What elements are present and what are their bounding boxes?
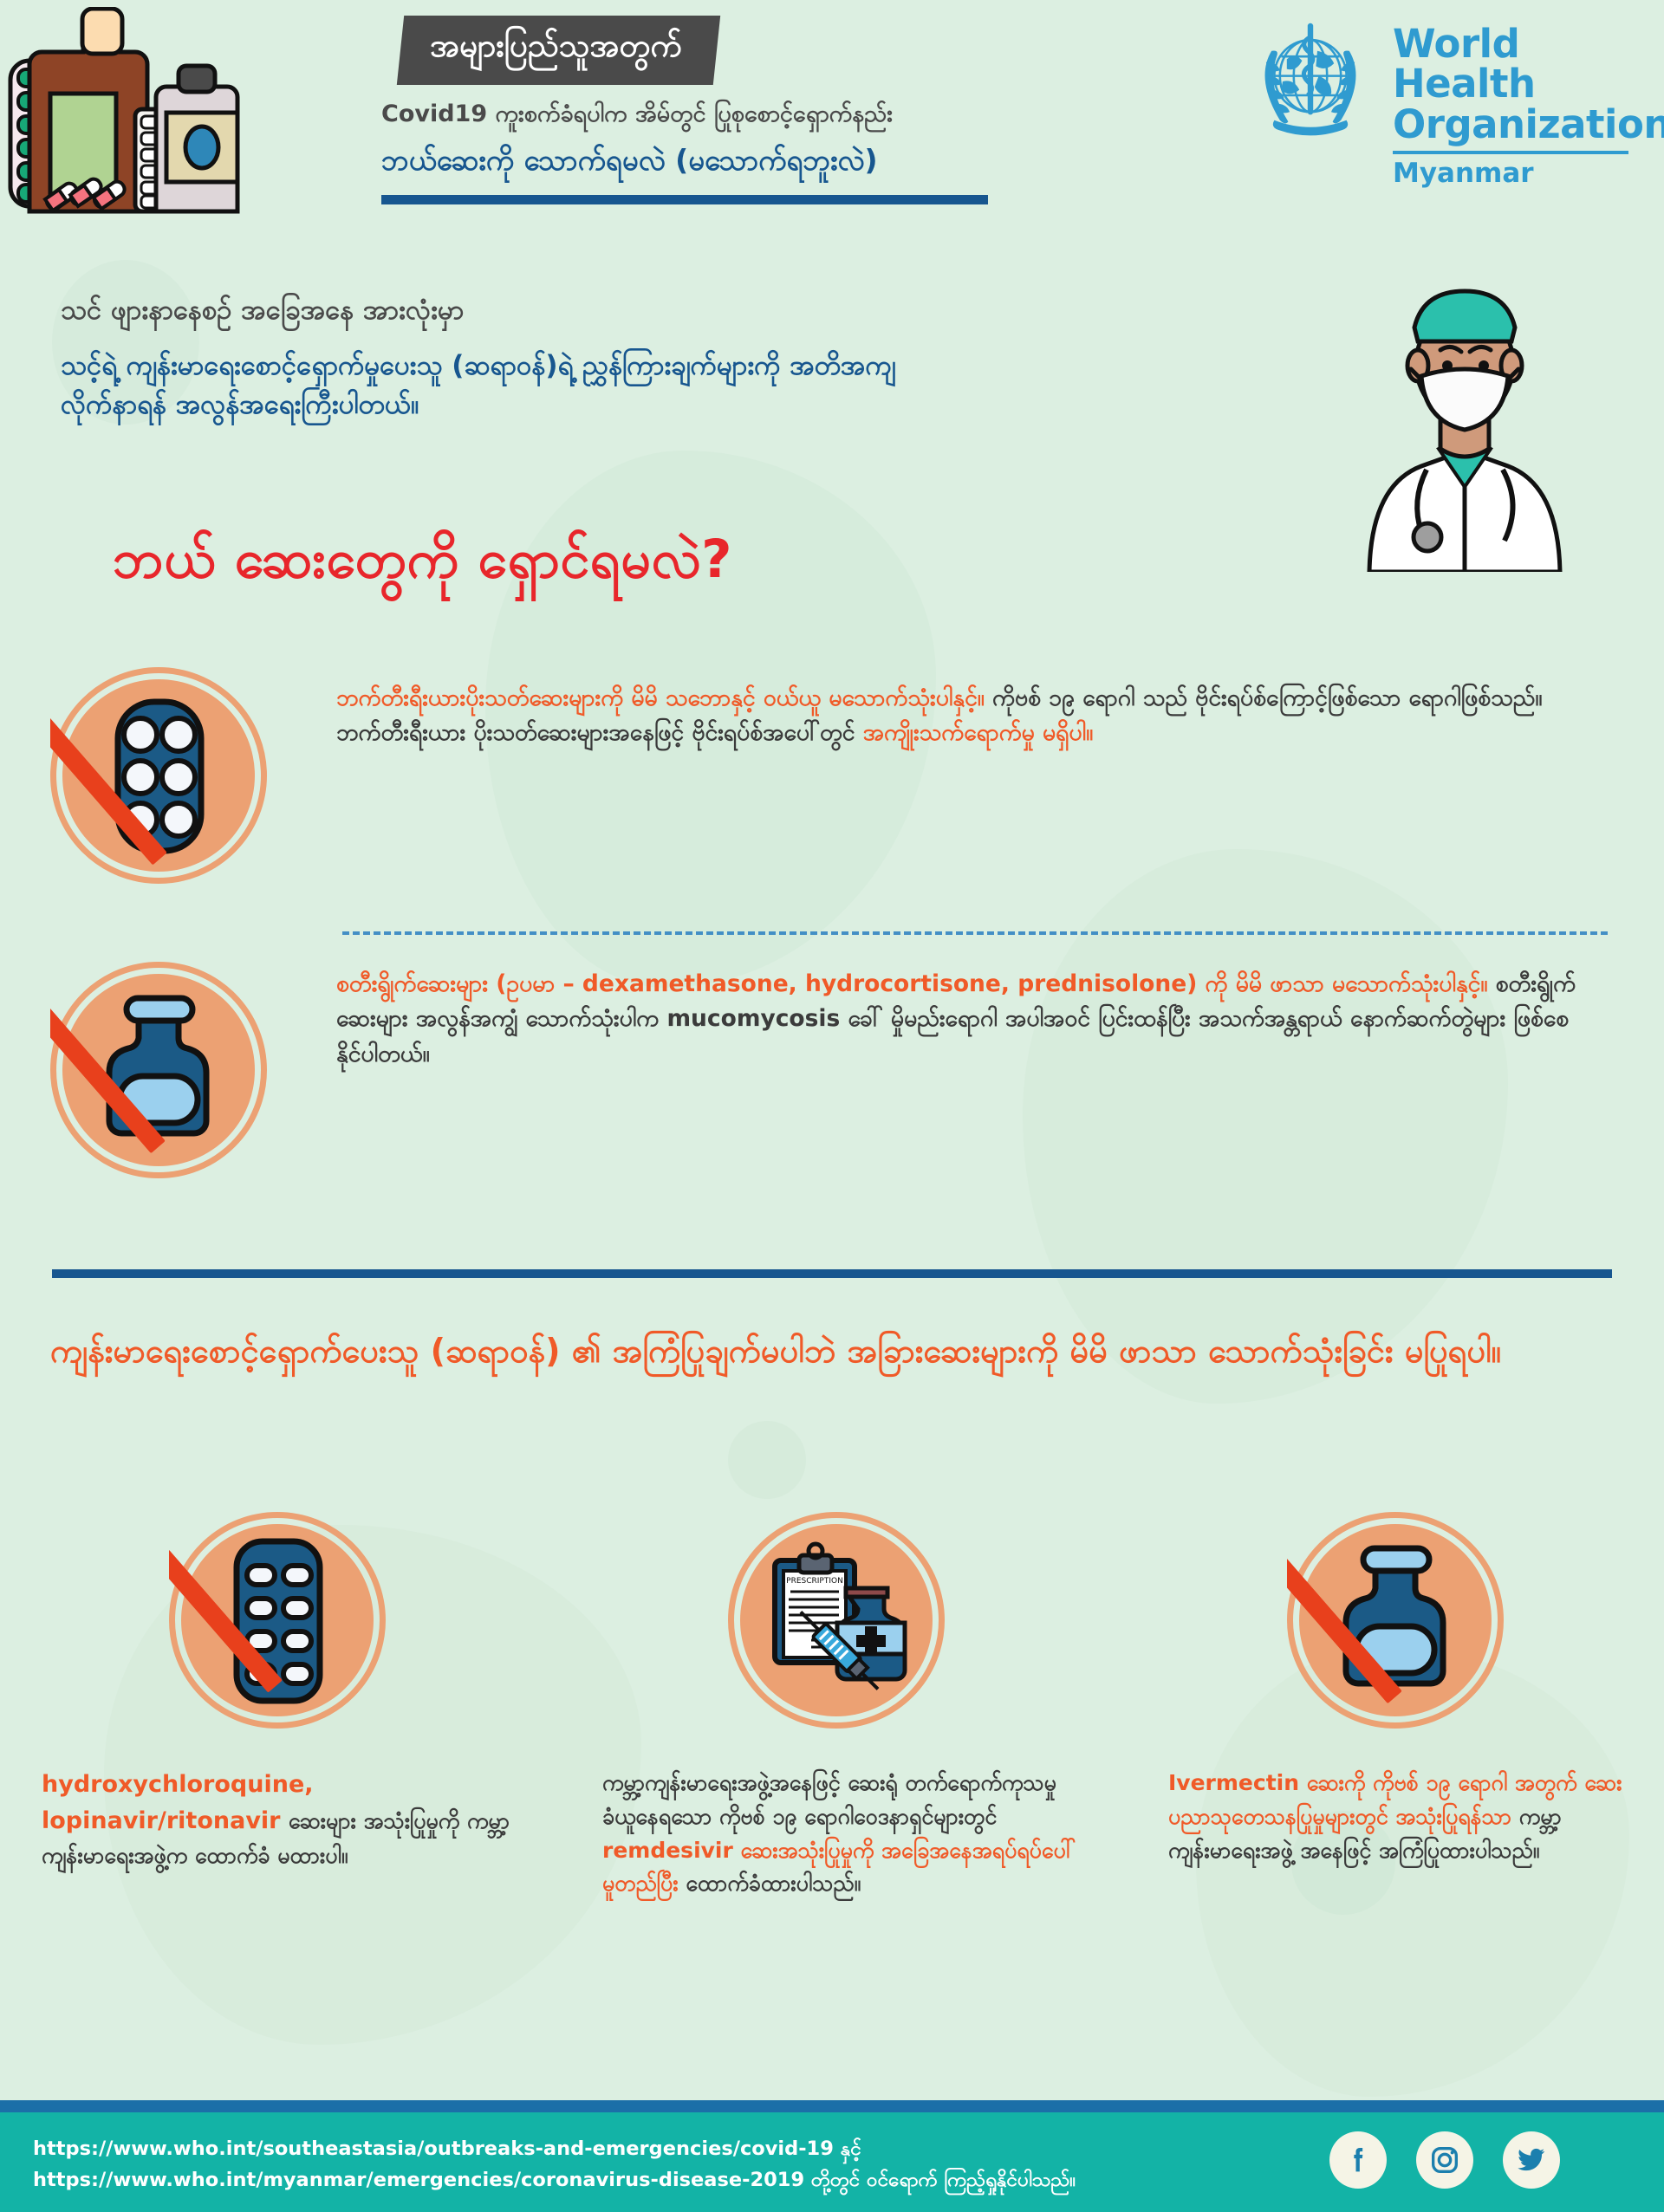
column-1-drug-names: hydroxychloroquine, lopinavir/ritonavir	[42, 1771, 314, 1834]
background-blob	[728, 1421, 806, 1499]
bullet-row-antibiotics: ဘက်တီးရီးယားပိုးသတ်ဆေးများကို မိမိ သဘောန…	[50, 667, 1619, 884]
prescription-clipboard-syringe-icon: PRESCRIPTION	[728, 1512, 945, 1729]
who-emblem-icon	[1241, 12, 1380, 151]
instagram-icon[interactable]	[1416, 2131, 1473, 2189]
twitter-icon[interactable]	[1503, 2131, 1560, 2189]
bullet-1-accent-1: ဘက်တီးရီးယားပိုးသတ်ဆေးများကို မိမိ သဘောန…	[336, 684, 992, 711]
infographic-page: အများပြည်သူအတွက် Covid19 ကူးစက်ခံရပါက အိ…	[0, 0, 1664, 2212]
audience-ribbon-label: အများပြည်သူအတွက်	[430, 26, 682, 73]
who-logo: World Health Organization Myanmar	[1241, 12, 1640, 177]
column-3-text: Ivermectin ဆေးကို ကိုဗစ် ၁၉ ရောဂါ အတွက် …	[1153, 1767, 1638, 1867]
footer-url-1[interactable]: https://www.who.int/southeastasia/outbre…	[33, 2133, 1076, 2164]
intro-line-2: သင့်ရဲ့ ကျန်းမာရေးစောင့်ရှောက်မှုပေးသူ (…	[61, 347, 1257, 386]
no-medicine-jar-icon	[1287, 1512, 1504, 1729]
who-country: Myanmar	[1393, 158, 1664, 189]
audience-ribbon: အများပြည်သူအတွက်	[397, 16, 720, 85]
prescription-label: PRESCRIPTION	[786, 1577, 843, 1586]
column-2-text: ကမ္ဘာ့ကျန်းမာရေးအဖွဲ့အနေဖြင့် ဆေးရုံ တက်…	[594, 1767, 1079, 1901]
intro-block: သင် ဖျားနာနေစဉ် အခြေအနေ အားလုံးမှာ သင့်ရ…	[61, 293, 1257, 425]
doctor-illustration	[1317, 260, 1612, 572]
column-1-text: hydroxychloroquine, lopinavir/ritonavir …	[35, 1767, 520, 1872]
social-links	[1329, 2131, 1560, 2189]
footer-top-rule	[0, 2100, 1664, 2112]
header-title: ဘယ်ဆေးကို သောက်ရမလဲ (မသောက်ရဘူးလဲ)	[381, 142, 1248, 185]
title-block: အများပြည်သူအတွက် Covid19 ကူးစက်ခံရပါက အိ…	[381, 16, 1248, 204]
who-divider	[1393, 151, 1628, 154]
facebook-icon[interactable]	[1329, 2131, 1387, 2189]
header-underline	[381, 195, 988, 204]
section-divider-solid	[52, 1269, 1612, 1278]
footer-urls: https://www.who.int/southeastasia/outbre…	[33, 2133, 1076, 2196]
column-2-body-2: ထောက်ခံထားပါသည်။	[686, 1871, 861, 1896]
columns-section: hydroxychloroquine, lopinavir/ritonavir …	[35, 1512, 1638, 1901]
column-remdesivir: PRESCRIPTION	[594, 1512, 1079, 1901]
footer: https://www.who.int/southeastasia/outbre…	[0, 2112, 1664, 2212]
header: အများပြည်သူအတွက် Covid19 ကူးစက်ခံရပါက အိ…	[0, 0, 1664, 286]
who-line-1: World Health	[1393, 24, 1664, 105]
section-divider-dashed	[342, 931, 1608, 935]
intro-line-3: လိုက်နာရန် အလွန်အရေးကြီးပါတယ်။	[61, 386, 1257, 425]
footer-url-2[interactable]: https://www.who.int/myanmar/emergencies/…	[33, 2164, 1076, 2196]
column-hydroxychloroquine: hydroxychloroquine, lopinavir/ritonavir …	[35, 1512, 520, 1901]
bullet-2-accent-1: စတီးရွိုက်ဆေးများ (ဥပမာ – dexamethasone,…	[336, 970, 1496, 997]
page-headline: ဘယ် ဆေးတွေကို ရှောင်ရမလဲ?	[113, 525, 732, 603]
column-2-body-1: ကမ္ဘာ့ကျန်းမာရေးအဖွဲ့အနေဖြင့် ဆေးရုံ တက်…	[602, 1770, 1056, 1829]
column-ivermectin: Ivermectin ဆေးကို ကိုဗစ် ၁၉ ရောဂါ အတွက် …	[1153, 1512, 1638, 1901]
intro-line-1: သင် ဖျားနာနေစဉ် အခြေအနေ အားလုံးမှာ	[61, 293, 1257, 333]
medicine-bottles-illustration	[5, 7, 265, 224]
header-subtitle: Covid19 ကူးစက်ခံရပါက အိမ်တွင် ပြုစုစောင့…	[381, 99, 1248, 133]
no-antibiotic-blister-pack-icon	[50, 667, 267, 884]
who-line-2: Organization	[1393, 105, 1664, 145]
bullet-row-steroids: စတီးရွိုက်ဆေးများ (ဥပမာ – dexamethasone,…	[50, 962, 1619, 1178]
bullet-1-accent-2: အကျိုးသက်ရောက်မှု မရှိပါ။	[863, 719, 1093, 746]
who-wordmark: World Health Organization Myanmar	[1393, 24, 1664, 189]
bullet-text-steroids: စတီးရွိုက်ဆေးများ (ဥပမာ – dexamethasone,…	[336, 962, 1584, 1072]
no-steroid-bottle-icon	[50, 962, 267, 1178]
mid-section-heading: ကျန်းမာရေးစောင့်ရှောက်ပေးသူ (ဆရာဝန်) ၏ အ…	[50, 1326, 1619, 1377]
no-blister-pack-icon	[169, 1512, 386, 1729]
bullet-text-antibiotics: ဘက်တီးရီးယားပိုးသတ်ဆေးများကို မိမိ သဘောန…	[336, 667, 1584, 751]
